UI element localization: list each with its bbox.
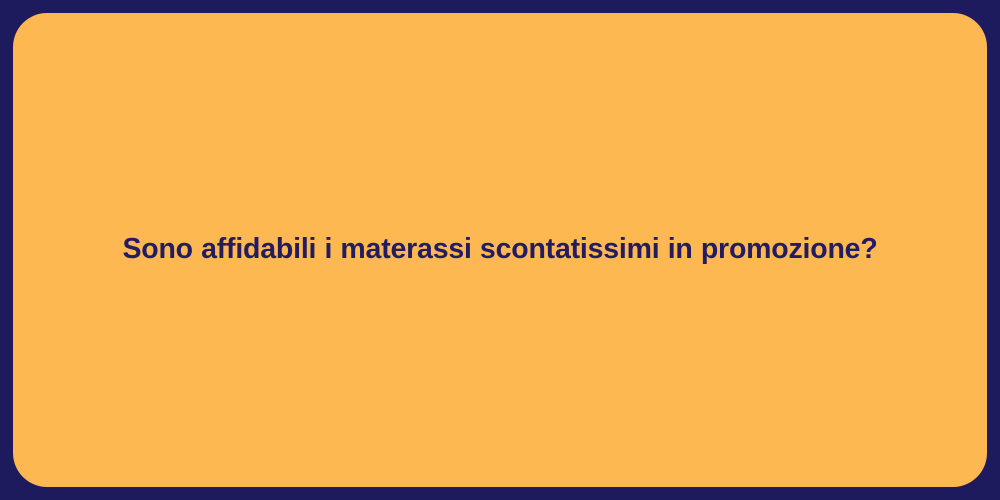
question-card: Sono affidabili i materassi scontatissim… bbox=[13, 13, 987, 487]
page-title: Sono affidabili i materassi scontatissim… bbox=[13, 232, 987, 268]
outer-frame: Sono affidabili i materassi scontatissim… bbox=[0, 0, 1000, 500]
